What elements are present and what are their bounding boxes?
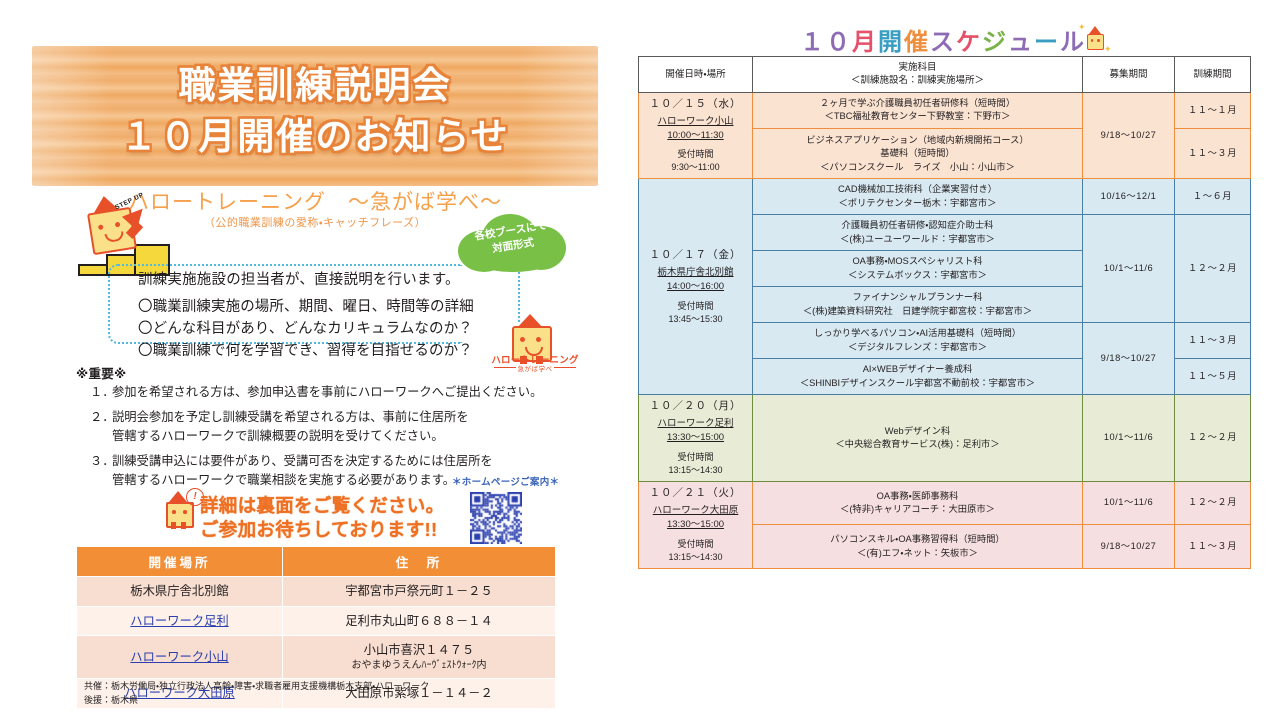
schedule-date: １０／１５（水） xyxy=(642,97,749,112)
schedule-time: 13:30～15:00 xyxy=(642,518,749,532)
schedule-reception-label: 受付時間 xyxy=(642,300,749,313)
mascot-hat-icon xyxy=(169,491,187,502)
schedule-training-period-cell: １１～３月 xyxy=(1175,129,1251,179)
schedule-datetime-place-cell: １０／２１（火） ハローワーク大田原13:30～15:00 受付時間13:15～… xyxy=(639,481,753,568)
table-row: １０／１７（金） 栃木県庁舎北別館14:00～16:00 受付時間13:45～1… xyxy=(639,179,1251,215)
cloud-badge: 各校ブースにて 対面形式 xyxy=(452,212,572,274)
schedule-reception-label: 受付時間 xyxy=(642,451,749,464)
note-text: 説明会参加を予定し訓練受講を希望される方は、事前に住居所を 管轄するハローワーク… xyxy=(112,408,590,445)
list-item: 〇どんな科目があり、どんなカリキュラムなのか？ xyxy=(138,318,488,340)
note-item: ２． 説明会参加を予定し訓練受講を希望される方は、事前に住居所を 管轄するハロー… xyxy=(90,408,590,445)
schedule-training-period-cell: １～６月 xyxy=(1175,179,1251,215)
credits-text: 共催：栃木労働局・独立行政法人高齢・障害・求職者雇用支援機構栃木支部・ハローワー… xyxy=(84,680,429,707)
schedule-recruit-period-cell: 9/18～10/27 xyxy=(1083,323,1175,395)
table-row: １０／１５（水） ハローワーク小山10:00～11:30 受付時間9:30～11… xyxy=(639,92,1251,129)
schedule-course-cell: OA事務・MOSスペシャリスト科 ＜システムボックス：宇都宮市＞ xyxy=(753,251,1083,287)
schedule-reception-time: 9:30～11:00 xyxy=(642,161,749,174)
schedule-title-mascot xyxy=(1084,26,1106,52)
venue-place-cell[interactable]: ハローワーク足利 xyxy=(77,606,283,636)
schedule-recruit-period-cell: 10/1～11/6 xyxy=(1083,215,1175,323)
schedule-training-period-cell: １１～５月 xyxy=(1175,359,1251,395)
schedule-time: 13:30～15:00 xyxy=(642,431,749,445)
homepage-label: ＊ホームページご案内＊ xyxy=(452,474,559,488)
table-row: ハローワーク足利足利市丸山町６８８－１４ xyxy=(77,606,556,636)
cta-mascot: ! xyxy=(158,492,202,536)
schedule-recruit-period-cell: 9/18～10/27 xyxy=(1083,525,1175,568)
flyer-left-panel: 職業訓練説明会 １０月開催のお知らせ ハロートレーニング ～急がば学べ～ （公的… xyxy=(0,0,632,720)
venue-place-cell[interactable]: ハローワーク小山 xyxy=(77,636,283,679)
col-header-datetime-place: 開催日時・場所 xyxy=(639,57,753,93)
title-char: １ xyxy=(800,22,826,57)
hero-banner: 職業訓練説明会 １０月開催のお知らせ xyxy=(32,46,598,186)
title-char: 月 xyxy=(852,22,878,57)
schedule-training-period-cell: １１～３月 xyxy=(1175,525,1251,568)
note-text: 参加を希望される方は、参加申込書を事前にハローワークへご提出ください。 xyxy=(112,383,590,401)
table-header-row: 開催場所 住 所 xyxy=(77,547,556,577)
title-char: ０ xyxy=(826,22,852,57)
list-item: 〇職業訓練で何を学習でき、習得を目指せるのか？ xyxy=(138,340,488,362)
note-item: １． 参加を希望される方は、参加申込書を事前にハローワークへご提出ください。 xyxy=(90,383,590,401)
schedule-training-period-cell: １２～２月 xyxy=(1175,215,1251,323)
schedule-course-cell: ２ヶ月で学ぶ介護職員初任者研修科（短時間） ＜TBC福祉教育センター下野教室：下… xyxy=(753,92,1083,129)
schedule-course-cell: ファイナンシャルプランナー科 ＜(株)建築資料研究社 日建学院宇都宮校：宇都宮市… xyxy=(753,287,1083,323)
table-row: ハローワーク小山小山市喜沢１４７５おやまゆうえんﾊｰｳﾞｪｽﾄｳｫｰｸ内 xyxy=(77,636,556,679)
schedule-training-period-cell: １２～２月 xyxy=(1175,481,1251,524)
note-number: ２． xyxy=(90,408,112,445)
table-header-row: 開催日時・場所 実施科目 ＜訓練施設名：訓練実施場所＞ 募集期間 訓練期間 xyxy=(639,57,1251,93)
schedule-time: 10:00～11:30 xyxy=(642,129,749,143)
schedule-course-cell: OA事務・医師事務科 ＜(特非)キャリアコーチ：大田原市＞ xyxy=(753,481,1083,524)
schedule-course-cell: CAD機械加工技術科（企業実習付き） ＜ポリテクセンター栃木：宇都宮市＞ xyxy=(753,179,1083,215)
schedule-place: ハローワーク大田原 xyxy=(642,504,749,518)
sparkle-icon: ✦ xyxy=(1078,22,1086,33)
schedule-course-cell: しっかり学べるパソコン・AI活用基礎科（短時間） ＜デジタルフレンズ：宇都宮市＞ xyxy=(753,323,1083,359)
title-char: 催 xyxy=(904,22,930,57)
schedule-datetime-place-cell: １０／２０（月） ハローワーク足利13:30～15:00 受付時間13:15～1… xyxy=(639,395,753,482)
schedule-course-cell: パソコンスキル・OA事務習得科（短時間） ＜(有)エフ・ネット：矢板市＞ xyxy=(753,525,1083,568)
venue-link[interactable]: ハローワーク足利 xyxy=(130,614,228,628)
schedule-date: １０／２０（月） xyxy=(642,399,749,414)
schedule-datetime-place-cell: １０／１５（水） ハローワーク小山10:00～11:30 受付時間9:30～11… xyxy=(639,92,753,179)
page-title: 職業訓練説明会 １０月開催のお知らせ xyxy=(32,60,598,162)
list-item: 〇職業訓練実施の場所、期間、曜日、時間等の詳細 xyxy=(138,296,488,318)
bullet-list: 〇職業訓練実施の場所、期間、曜日、時間等の詳細 〇どんな科目があり、どんなカリキ… xyxy=(138,296,488,362)
schedule-place: ハローワーク足利 xyxy=(642,417,749,431)
flyer-page: 職業訓練説明会 １０月開催のお知らせ ハロートレーニング ～急がば学べ～ （公的… xyxy=(0,0,1280,720)
mascot-tagline: 急がば学べ xyxy=(478,363,592,373)
venue-name: 栃木県庁舎北別館 xyxy=(130,584,228,598)
table-row: １０／２１（火） ハローワーク大田原13:30～15:00 受付時間13:15～… xyxy=(639,481,1251,524)
table-row: 栃木県庁舎北別館宇都宮市戸祭元町１－２５ xyxy=(77,577,556,607)
title-char: ー xyxy=(1034,22,1060,57)
venue-address-sub: おやまゆうえんﾊｰｳﾞｪｽﾄｳｫｰｸ内 xyxy=(283,659,555,673)
title-char: ュ xyxy=(1008,22,1034,57)
schedule-reception-time: 13:15～14:30 xyxy=(642,464,749,477)
title-char: 開 xyxy=(878,22,904,57)
venue-address-cell: 宇都宮市戸祭元町１－２５ xyxy=(283,577,556,607)
schedule-training-period-cell: １２～２月 xyxy=(1175,395,1251,482)
schedule-course-cell: Webデザイン科 ＜中央総合教育サービス(株)：足利市＞ xyxy=(753,395,1083,482)
table-row: １０／２０（月） ハローワーク足利13:30～15:00 受付時間13:15～1… xyxy=(639,395,1251,482)
note-number: ３． xyxy=(90,452,112,489)
cta-text: 詳細は裏面をご覧ください。 ご参加お待ちしております!! xyxy=(200,494,460,542)
title-char: ジ xyxy=(982,22,1008,57)
venue-address-cell: 小山市喜沢１４７５おやまゆうえんﾊｰｳﾞｪｽﾄｳｫｰｸ内 xyxy=(283,636,556,679)
col-header-recruit-period: 募集期間 xyxy=(1083,57,1175,93)
mascot-face-icon xyxy=(1087,34,1104,50)
title-char: ケ xyxy=(956,22,982,57)
schedule-recruit-period-cell: 10/16～12/1 xyxy=(1083,179,1175,215)
note-number: １． xyxy=(90,383,112,401)
schedule-training-period-cell: １１～３月 xyxy=(1175,323,1251,359)
schedule-place: 栃木県庁舎北別館 xyxy=(642,266,749,280)
title-char: ス xyxy=(930,22,956,57)
schedule-reception-time: 13:15～14:30 xyxy=(642,551,749,564)
col-header-course: 実施科目 ＜訓練施設名：訓練実施場所＞ xyxy=(753,57,1083,93)
schedule-reception-time: 13:45～15:30 xyxy=(642,313,749,326)
col-header-training-period: 訓練期間 xyxy=(1175,57,1251,93)
col-header-address: 住 所 xyxy=(283,547,556,577)
schedule-date: １０／２１（火） xyxy=(642,486,749,501)
schedule-datetime-place-cell: １０／１７（金） 栃木県庁舎北別館14:00～16:00 受付時間13:45～1… xyxy=(639,179,753,395)
venue-link[interactable]: ハローワーク小山 xyxy=(130,650,228,664)
schedule-training-period-cell: １１～１月 xyxy=(1175,92,1251,129)
mascot-hat-icon xyxy=(1089,26,1101,34)
schedule-date: １０／１７（金） xyxy=(642,248,749,263)
schedule-recruit-period-cell: 10/1～11/6 xyxy=(1083,481,1175,524)
schedule-time: 14:00～16:00 xyxy=(642,280,749,294)
schedule-title: １０月開催スケジュール xyxy=(636,22,1250,57)
schedule-panel: １０月開催スケジュール 開催日時・場所 実施科目 ＜訓練施設名：訓練実施場所＞ … xyxy=(636,0,1280,720)
lead-text: 訓練実施施設の担当者が、直接説明を行います。 xyxy=(138,268,468,289)
schedule-reception-label: 受付時間 xyxy=(642,148,749,161)
schedule-table: 開催日時・場所 実施科目 ＜訓練施設名：訓練実施場所＞ 募集期間 訓練期間 １０… xyxy=(638,56,1251,569)
schedule-place: ハローワーク小山 xyxy=(642,115,749,129)
venue-address-cell: 足利市丸山町６８８－１４ xyxy=(283,606,556,636)
col-header-place: 開催場所 xyxy=(77,547,283,577)
venue-place-cell: 栃木県庁舎北別館 xyxy=(77,577,283,607)
schedule-course-cell: AI×WEBデザイナー養成科 ＜SHINBIデザインスクール宇都宮不動前校：宇都… xyxy=(753,359,1083,395)
schedule-reception-label: 受付時間 xyxy=(642,538,749,551)
schedule-course-cell: ビジネスアプリケーション（地域内新規開拓コース） 基礎科（短時間） ＜パソコンス… xyxy=(753,129,1083,179)
schedule-recruit-period-cell: 9/18～10/27 xyxy=(1083,92,1175,179)
important-heading: ※重要※ xyxy=(76,363,127,382)
schedule-course-cell: 介護職員初任者研修・認知症介助士科 ＜(株)ユーユーワールド：宇都宮市＞ xyxy=(753,215,1083,251)
sparkle-icon: ✦ xyxy=(1104,44,1112,55)
qr-code[interactable] xyxy=(470,492,522,544)
schedule-recruit-period-cell: 10/1～11/6 xyxy=(1083,395,1175,482)
